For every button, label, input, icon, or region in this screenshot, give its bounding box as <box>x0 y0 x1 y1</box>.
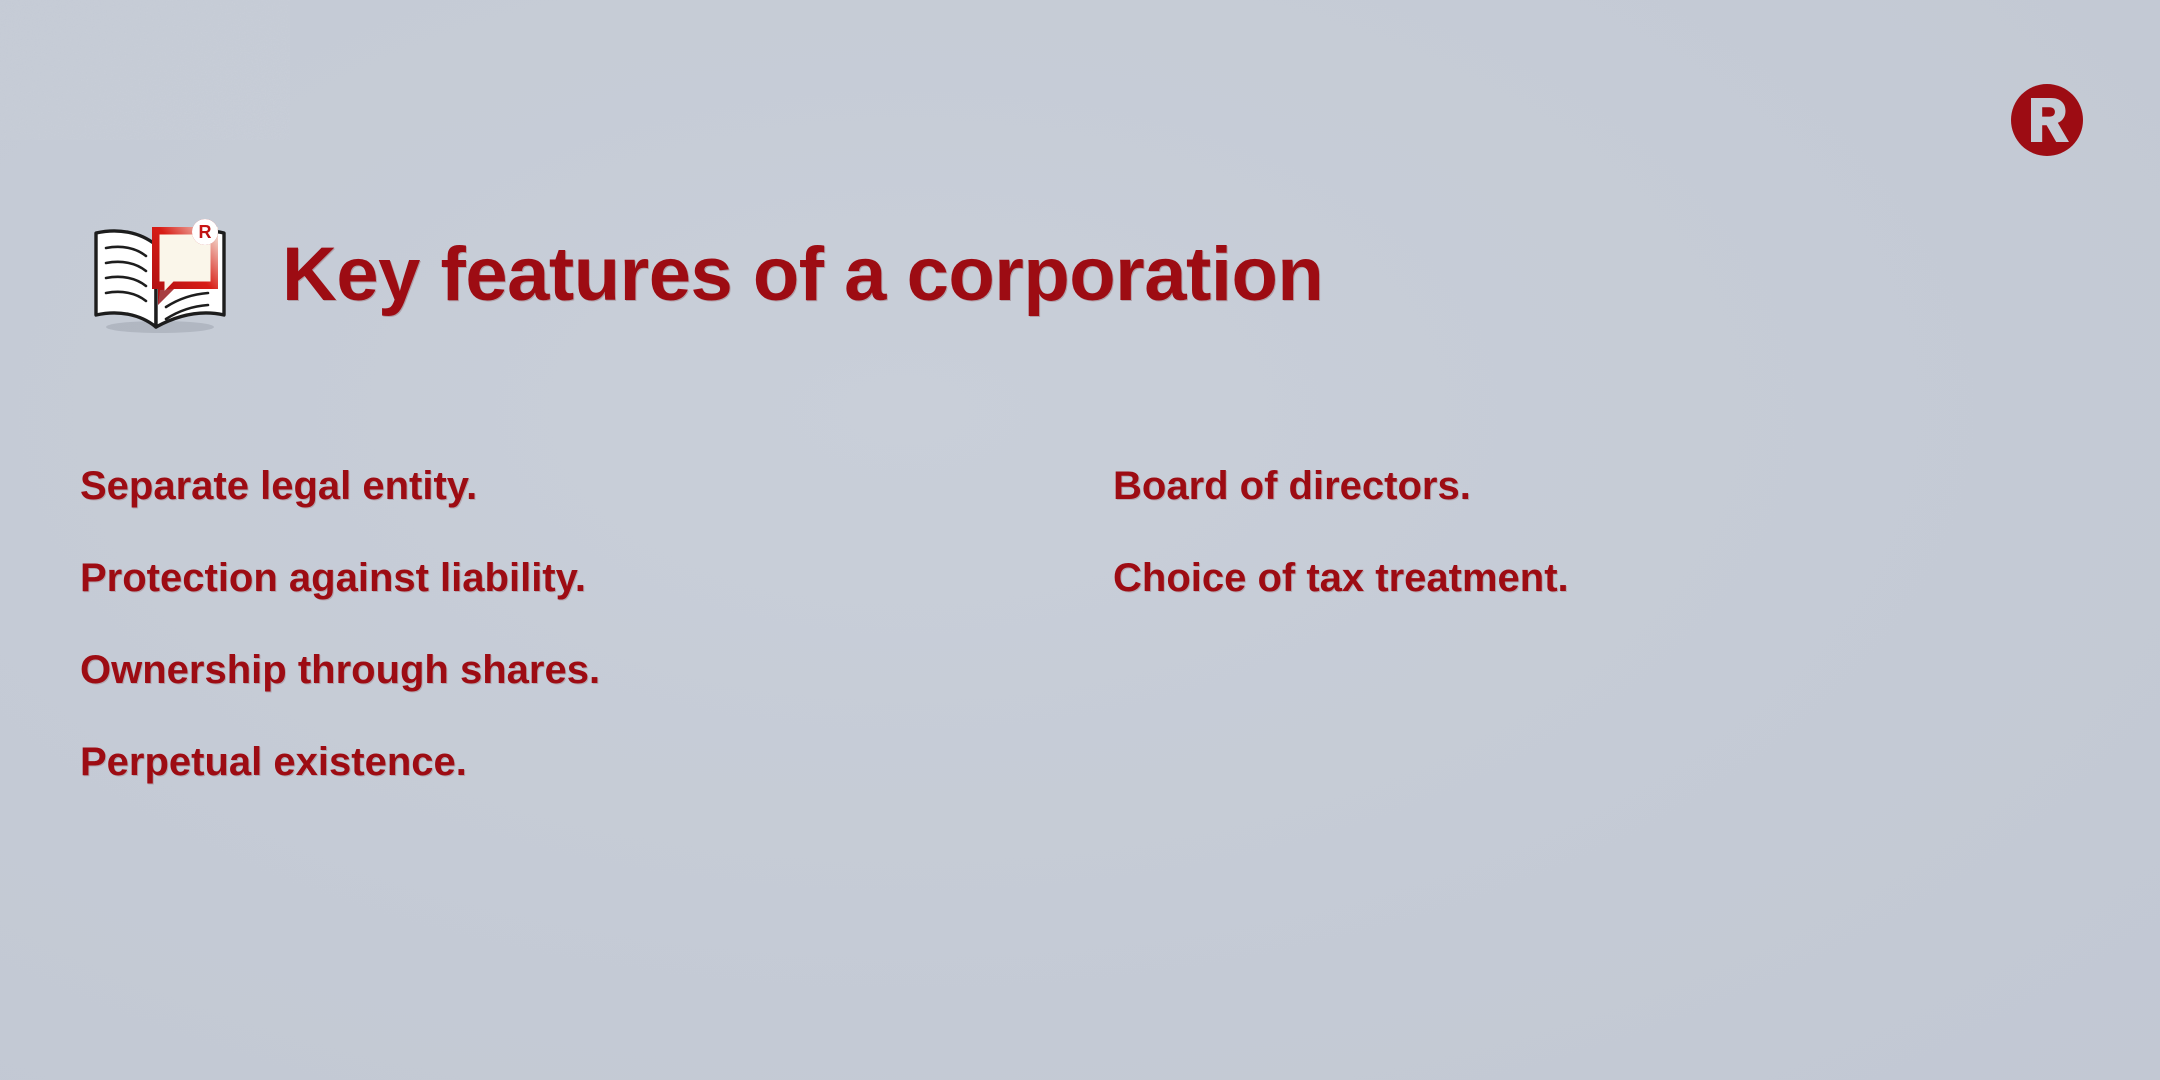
page-title: Key features of a corporation <box>282 237 1323 313</box>
feature-item: Perpetual existence. <box>80 716 1040 808</box>
feature-column-left: Separate legal entity. Protection agains… <box>80 440 1040 808</box>
feature-item: Ownership through shares. <box>80 624 1040 716</box>
open-book-with-note-icon: R <box>88 215 230 335</box>
background-grain-texture <box>0 0 290 140</box>
feature-column-right: Board of directors. Choice of tax treatm… <box>1113 440 2073 624</box>
slide-header: R <box>88 215 1323 335</box>
feature-item: Board of directors. <box>1113 440 2073 532</box>
feature-item: Choice of tax treatment. <box>1113 532 2073 624</box>
feature-item: Protection against liability. <box>80 532 1040 624</box>
slide-canvas: R <box>0 0 2160 1080</box>
feature-item: Separate legal entity. <box>80 440 1040 532</box>
registered-r-logo <box>2011 84 2083 156</box>
